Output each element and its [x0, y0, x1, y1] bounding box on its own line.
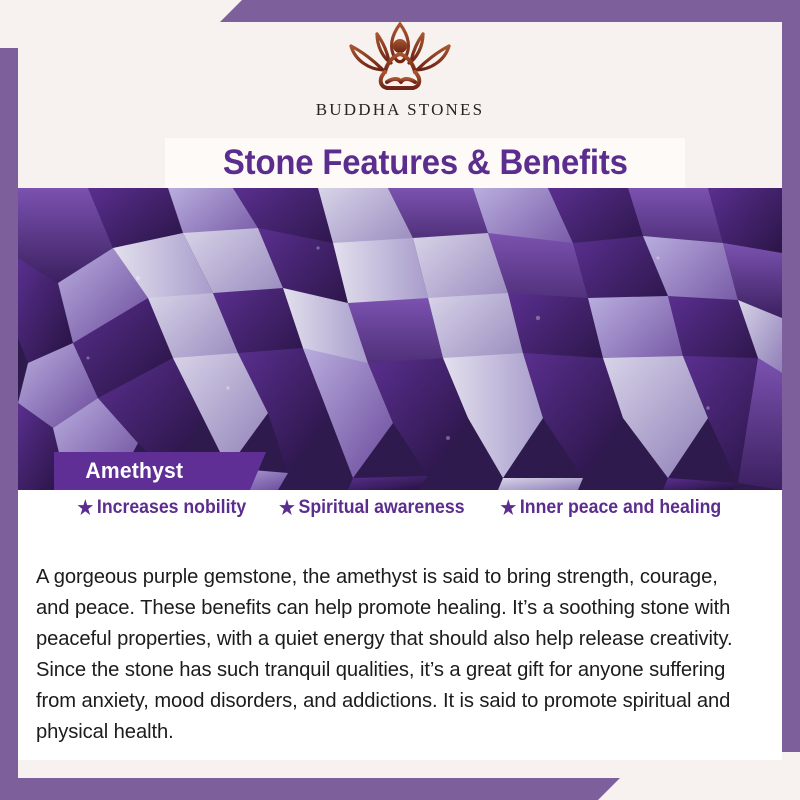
infographic-page: BUDDHA STONES — [0, 0, 800, 800]
frame-bottom-bar — [0, 778, 620, 800]
amethyst-crystal-cluster-photo — [18, 188, 782, 490]
page-title: Stone Features & Benefits — [223, 143, 628, 183]
benefits-row: ★ Increases nobility ★ Spiritual awarene… — [18, 497, 782, 519]
frame-left-bar — [0, 48, 18, 800]
content-card: BUDDHA STONES — [18, 0, 782, 778]
stone-description: A gorgeous purple gemstone, the amethyst… — [36, 561, 755, 747]
benefit-label: Spiritual awareness — [299, 497, 465, 519]
star-icon: ★ — [77, 499, 93, 518]
benefit-item: ★ Inner peace and healing — [500, 497, 721, 519]
lotus-meditation-figure-icon — [325, 16, 475, 98]
benefit-item: ★ Spiritual awareness — [279, 497, 465, 519]
frame-right-bar — [782, 0, 800, 752]
benefit-item: ★ Increases nobility — [77, 497, 246, 519]
stone-name-banner: Amethyst — [54, 452, 266, 490]
section-title-band: Stone Features & Benefits — [165, 138, 685, 188]
stone-name: Amethyst — [57, 458, 184, 484]
star-icon: ★ — [279, 499, 295, 518]
benefit-label: Increases nobility — [97, 497, 246, 519]
brand-name: BUDDHA STONES — [316, 100, 485, 120]
frame-top-bar — [220, 0, 800, 22]
benefit-label: Inner peace and healing — [520, 497, 721, 519]
star-icon: ★ — [500, 499, 516, 518]
